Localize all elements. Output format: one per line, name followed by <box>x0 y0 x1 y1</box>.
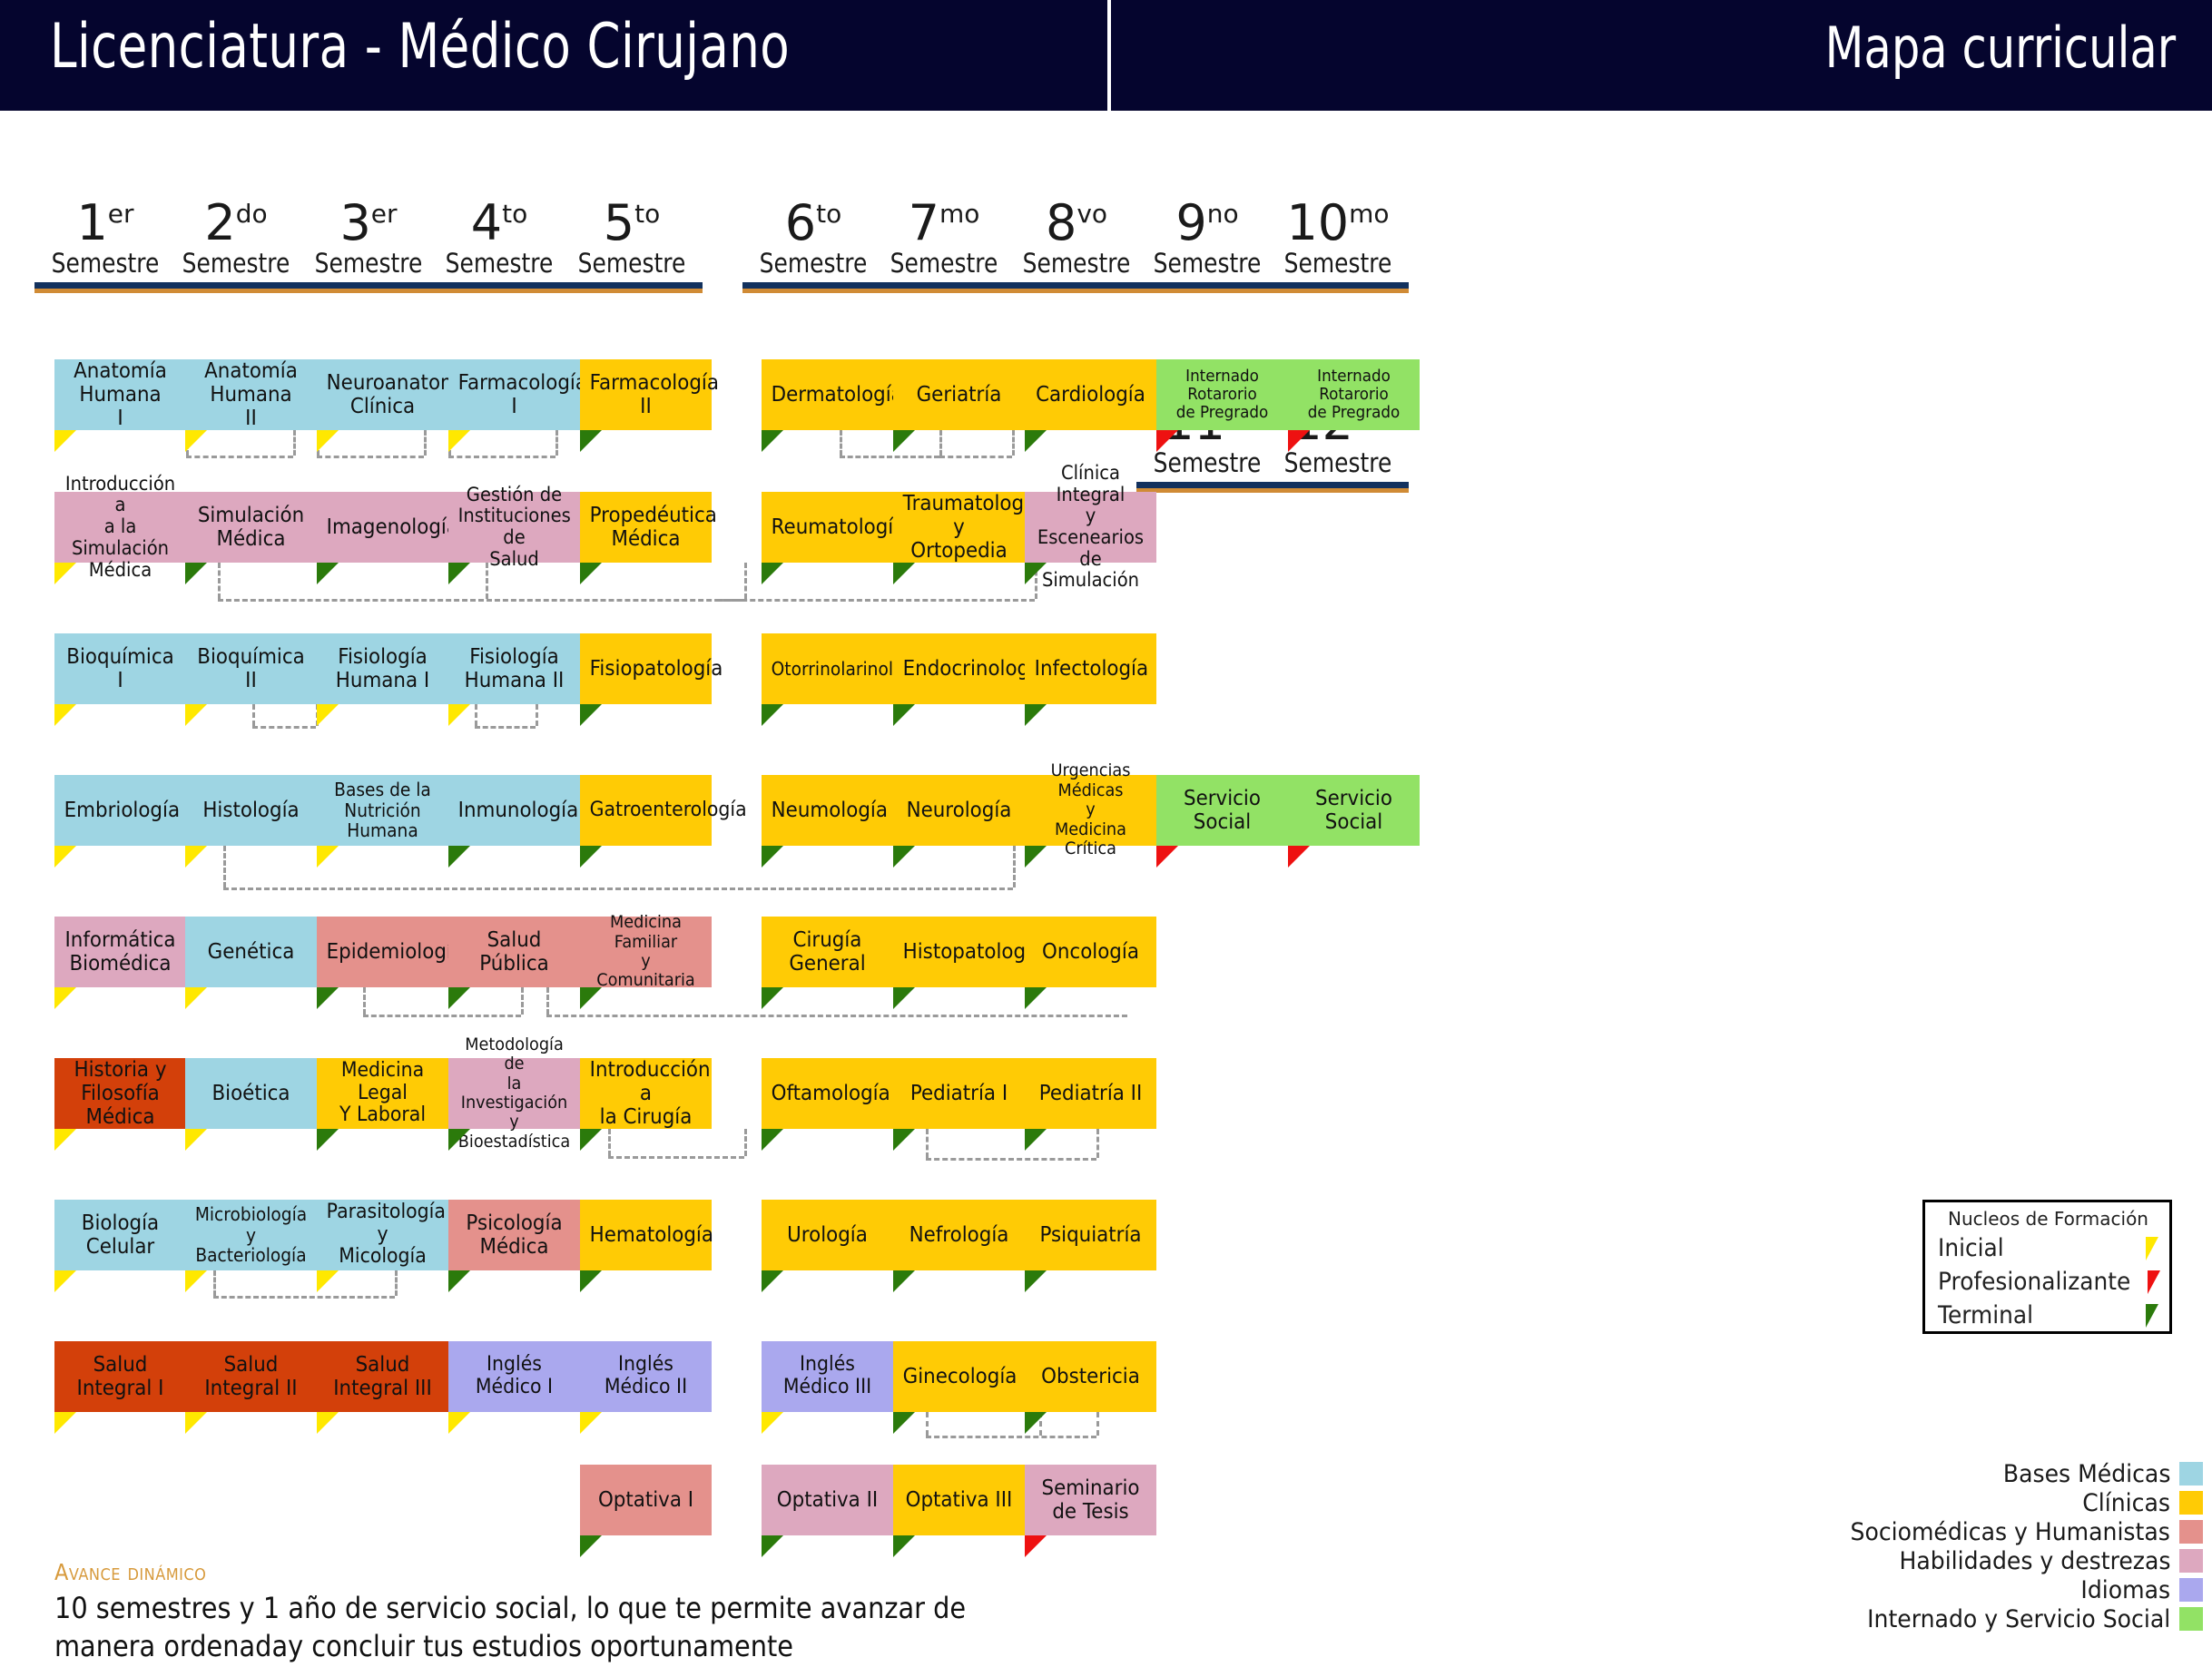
semester-rule <box>561 282 703 293</box>
course-label: Genética <box>195 940 308 964</box>
course-box[interactable]: FisiologíaHumana II <box>448 633 580 704</box>
course-box[interactable]: Internado Rotaroriode Pregrado <box>1156 359 1288 430</box>
nucleos-legend-row-inicial: Inicial <box>1938 1231 2158 1265</box>
semester-word: Semestre <box>571 249 693 279</box>
course-nucleo-flag-prof-icon <box>1156 846 1178 868</box>
course-nucleo-flag-inicial-icon <box>185 704 207 726</box>
course-box[interactable]: Optativa III <box>893 1465 1025 1535</box>
course-box[interactable]: BiologíaCelular <box>54 1200 186 1270</box>
course-nucleo-flag-terminal-icon <box>762 704 783 726</box>
course-nucleo-flag-inicial-icon <box>54 846 76 868</box>
course-label: ServicioSocial <box>1298 787 1411 834</box>
course-box[interactable]: Neurología <box>893 775 1025 846</box>
course-box[interactable]: Epidemiología <box>317 917 448 987</box>
semester-rule <box>428 282 570 293</box>
legend-color-swatch <box>2179 1607 2203 1631</box>
course-box[interactable]: SaludIntegral II <box>185 1341 317 1412</box>
course-nucleo-flag-terminal-icon <box>448 846 470 868</box>
semester-header-1: 1erSemestre <box>34 198 176 293</box>
course-box[interactable]: Clínica Integraly Escenearios deSimulaci… <box>1025 492 1156 563</box>
course-label: AnatomíaHumanaII <box>195 359 308 430</box>
course-box[interactable]: Hematología <box>580 1200 712 1270</box>
course-label: Inglés Médico III <box>772 1354 884 1399</box>
semester-number: 1er <box>34 198 176 249</box>
course-label: Bioquímica I <box>64 645 177 692</box>
course-box[interactable]: SaludIntegral III <box>317 1341 448 1412</box>
legend-row: Habilidades y destrezas <box>1695 1546 2203 1575</box>
semester-ordinal-suffix: no <box>1207 199 1239 229</box>
page-subtitle: Mapa curricular <box>1824 15 2176 81</box>
course-box[interactable]: Imagenología <box>317 492 448 563</box>
course-label: SaludIntegral III <box>327 1353 439 1400</box>
course-box[interactable]: Inglés Médico II <box>580 1341 712 1412</box>
prerequisite-connector <box>252 726 316 729</box>
course-label: Internado Rotaroriode Pregrado <box>1298 368 1411 423</box>
prerequisite-connector <box>536 704 538 726</box>
course-label: Bioética <box>195 1082 308 1105</box>
course-box[interactable]: Cardiología <box>1025 359 1156 430</box>
legend-color-swatch <box>2179 1520 2203 1544</box>
course-nucleo-flag-inicial-icon <box>54 430 76 452</box>
course-nucleo-flag-inicial-icon <box>54 704 76 726</box>
course-label: Reumatología <box>772 515 884 539</box>
course-label: Optativa III <box>903 1488 1016 1512</box>
course-box[interactable]: Bioquímica II <box>185 633 317 704</box>
course-box[interactable]: Internado Rotaroriode Pregrado <box>1288 359 1420 430</box>
course-box[interactable]: Bioética <box>185 1058 317 1129</box>
legend-row: Clínicas <box>1695 1488 2203 1517</box>
prerequisite-connector <box>1096 1129 1099 1158</box>
semester-number: 3er <box>298 198 439 249</box>
prerequisite-connector <box>840 456 939 458</box>
course-label: CirugíaGeneral <box>772 928 884 976</box>
course-box[interactable]: Parasitología yMicología <box>317 1200 448 1270</box>
semester-header-4: 4toSemestre <box>428 198 570 293</box>
semester-header-8: 8voSemestre <box>1006 198 1147 293</box>
prerequisite-connector <box>293 430 296 456</box>
semester-number: 7mo <box>873 198 1015 249</box>
course-label: Pediatría I <box>903 1082 1016 1105</box>
course-nucleo-flag-inicial-icon <box>54 1129 76 1151</box>
course-box[interactable]: Oncología <box>1025 917 1156 987</box>
course-nucleo-flag-terminal-icon <box>762 563 783 584</box>
course-nucleo-flag-terminal-icon <box>448 1129 470 1151</box>
semester-number: 6to <box>742 198 884 249</box>
course-box[interactable]: Otorrinolarinología <box>762 633 893 704</box>
course-nucleo-flag-terminal-icon <box>762 846 783 868</box>
course-nucleo-flag-terminal-icon <box>580 1535 602 1557</box>
course-nucleo-flag-terminal-icon <box>580 987 602 1009</box>
course-label: Hematología <box>590 1223 703 1247</box>
semester-ordinal-suffix: do <box>236 199 268 229</box>
prerequisite-connector <box>608 1129 611 1156</box>
course-box[interactable]: Fisiopatología <box>580 633 712 704</box>
nucleos-label-terminal: Terminal <box>1938 1301 2033 1329</box>
course-label: Internado Rotaroriode Pregrado <box>1166 368 1279 423</box>
semester-number: 8vo <box>1006 198 1147 249</box>
course-label: Fisiopatología <box>590 657 703 681</box>
semester-word: Semestre <box>175 249 297 279</box>
semester-rule <box>298 282 439 293</box>
course-label: Inglés Médico II <box>590 1354 703 1399</box>
course-label: Neurología <box>903 799 1016 822</box>
course-label: Imagenología <box>327 515 439 539</box>
course-label: Salud Pública <box>458 928 571 976</box>
course-nucleo-flag-terminal-icon <box>762 1270 783 1292</box>
semester-number: 5to <box>561 198 703 249</box>
page-header: Licenciatura - Médico Cirujano Mapa curr… <box>0 0 2212 111</box>
prerequisite-connector <box>218 599 744 602</box>
course-box[interactable]: CirugíaGeneral <box>762 917 893 987</box>
course-box[interactable]: Introducción ala Cirugía <box>580 1058 712 1129</box>
course-nucleo-flag-inicial-icon <box>448 430 470 452</box>
legend-row: Bases Médicas <box>1695 1459 2203 1488</box>
course-box[interactable]: Nefrología <box>893 1200 1025 1270</box>
course-nucleo-flag-terminal-icon <box>1025 1129 1047 1151</box>
course-nucleo-flag-terminal-icon <box>893 1129 915 1151</box>
course-nucleo-flag-prof-icon <box>1025 1535 1047 1557</box>
semester-number: 10mo <box>1267 198 1409 249</box>
course-nucleo-flag-inicial-icon <box>54 563 76 584</box>
legend-color-swatch <box>2179 1491 2203 1515</box>
prerequisite-connector <box>926 1436 1096 1438</box>
course-nucleo-flag-inicial-icon <box>185 1412 207 1434</box>
course-nucleo-flag-terminal-icon <box>580 704 602 726</box>
prerequisite-connector <box>840 430 842 456</box>
course-box[interactable]: Salud Pública <box>448 917 580 987</box>
nucleos-legend-row-terminal: Terminal <box>1938 1299 2158 1332</box>
course-nucleo-flag-inicial-icon <box>762 1412 783 1434</box>
course-label: Introducción ala Cirugía <box>590 1058 703 1129</box>
course-box[interactable]: Endocrinología <box>893 633 1025 704</box>
semester-header-6: 6toSemestre <box>742 198 884 293</box>
prerequisite-connector <box>744 1129 747 1156</box>
prerequisite-connector <box>363 987 366 1015</box>
course-box[interactable]: Embriología <box>54 775 186 846</box>
course-label: Urgencias MédicasyMedicina Crítica <box>1035 761 1147 858</box>
nucleos-legend: Nucleos de Formación Inicial Profesional… <box>1922 1200 2172 1334</box>
course-nucleo-flag-terminal-icon <box>317 987 339 1009</box>
course-box[interactable]: Oftamología <box>762 1058 893 1129</box>
semester-header-2: 2doSemestre <box>165 198 307 293</box>
nucleos-label-profesionalizante: Profesionalizante <box>1938 1268 2130 1296</box>
course-box[interactable]: NeuroanatomíaClínica <box>317 359 448 430</box>
semester-header-10: 10moSemestre <box>1267 198 1409 293</box>
prerequisite-connector <box>939 430 942 456</box>
course-nucleo-flag-inicial-icon <box>54 1270 76 1292</box>
course-nucleo-flag-terminal-icon <box>580 1129 602 1151</box>
course-box[interactable]: Bases de laNutrición Humana <box>317 775 448 846</box>
course-box[interactable]: Infectología <box>1025 633 1156 704</box>
semester-ordinal-suffix: to <box>816 199 841 229</box>
semester-word: Semestre <box>438 249 560 279</box>
course-nucleo-flag-inicial-icon <box>185 430 207 452</box>
course-label: Gestión deInstituciones deSalud <box>458 485 571 571</box>
course-nucleo-flag-terminal-icon <box>1025 1412 1047 1434</box>
legend-row: Internado y Servicio Social <box>1695 1604 2203 1633</box>
semester-word: Semestre <box>1277 249 1399 279</box>
course-nucleo-flag-prof-icon <box>1156 430 1178 452</box>
footnote: Avance dinámico 10 semestres y 1 año de … <box>54 1559 1144 1665</box>
course-nucleo-flag-inicial-icon <box>317 846 339 868</box>
course-nucleo-flag-inicial-icon <box>317 1412 339 1434</box>
course-nucleo-flag-terminal-icon <box>1025 704 1047 726</box>
course-label: Urología <box>772 1223 884 1247</box>
semester-word: Semestre <box>1016 249 1137 279</box>
footnote-body: 10 semestres y 1 año de servicio social,… <box>54 1589 1035 1665</box>
course-box[interactable]: Pediatría I <box>893 1058 1025 1129</box>
semester-word: Semestre <box>308 249 429 279</box>
semester-header-7: 7moSemestre <box>873 198 1015 293</box>
course-nucleo-flag-inicial-icon <box>448 704 470 726</box>
semester-rule <box>1267 282 1409 293</box>
course-label: Obstericia <box>1035 1365 1147 1388</box>
course-box[interactable]: Introducción aa la SimulaciónMédica <box>54 492 186 563</box>
course-label: Cardiología <box>1035 383 1147 407</box>
course-box[interactable]: Psiquiatría <box>1025 1200 1156 1270</box>
legend-color-swatch <box>2179 1578 2203 1602</box>
course-box[interactable]: Urgencias MédicasyMedicina Crítica <box>1025 775 1156 846</box>
semester-ordinal-suffix: vo <box>1077 199 1107 229</box>
course-box[interactable]: Pediatría II <box>1025 1058 1156 1129</box>
course-label: Psiquiatría <box>1035 1223 1147 1247</box>
course-nucleo-flag-terminal-icon <box>580 430 602 452</box>
legend-label: Clínicas <box>2082 1489 2170 1517</box>
course-nucleo-flag-terminal-icon <box>185 563 207 584</box>
prerequisite-connector <box>213 1296 395 1299</box>
course-label: AnatomíaHumanaI <box>64 359 177 430</box>
course-box[interactable]: Seminariode Tesis <box>1025 1465 1156 1535</box>
course-label: Infectología <box>1035 657 1147 681</box>
course-box[interactable]: Genética <box>185 917 317 987</box>
prerequisite-connector <box>213 1270 216 1296</box>
course-label: Inglés Médico I <box>458 1354 571 1399</box>
prerequisite-connector <box>475 726 536 729</box>
course-box[interactable]: ServicioSocial <box>1288 775 1420 846</box>
legend-label: Bases Médicas <box>2002 1460 2170 1488</box>
prerequisite-connector <box>926 1412 929 1436</box>
legend-label: Sociomédicas y Humanistas <box>1851 1518 2170 1546</box>
page-title: Licenciatura - Médico Cirujano <box>50 11 790 83</box>
course-label: Endocrinología <box>903 657 1016 681</box>
course-nucleo-flag-terminal-icon <box>317 1129 339 1151</box>
course-box[interactable]: Inglés Médico III <box>762 1341 893 1412</box>
course-label: SaludIntegral I <box>64 1353 177 1400</box>
course-box[interactable]: AnatomíaHumanaII <box>185 359 317 430</box>
semester-ordinal-suffix: mo <box>939 199 979 229</box>
course-label: Introducción aa la SimulaciónMédica <box>64 474 177 582</box>
course-box[interactable]: InformáticaBiomédica <box>54 917 186 987</box>
course-box[interactable]: Historia yFilosofíaMédica <box>54 1058 186 1129</box>
prerequisite-connector <box>546 987 549 1015</box>
prerequisite-connector <box>1013 846 1016 887</box>
triangle-flag-terminal-icon <box>2146 1304 2158 1328</box>
course-label: Nefrología <box>903 1223 1016 1247</box>
semester-ordinal-suffix: mo <box>1349 199 1389 229</box>
course-label: Epidemiología <box>327 940 439 964</box>
legend-color-swatch <box>2179 1462 2203 1486</box>
course-label: Oftamología <box>772 1082 884 1105</box>
course-box[interactable]: PsicologíaMédica <box>448 1200 580 1270</box>
course-nucleo-flag-terminal-icon <box>1025 563 1047 584</box>
semester-header-9: 9noSemestre <box>1136 198 1278 293</box>
course-box[interactable]: Reumatología <box>762 492 893 563</box>
course-label: Oncología <box>1035 940 1147 964</box>
course-nucleo-flag-terminal-icon <box>1025 1270 1047 1292</box>
course-box[interactable]: Obstericia <box>1025 1341 1156 1412</box>
legend-label: Idiomas <box>2080 1576 2170 1604</box>
course-label: Inmunología <box>458 799 571 822</box>
course-nucleo-flag-terminal-icon <box>893 704 915 726</box>
course-nucleo-flag-prof-icon <box>1288 430 1310 452</box>
legend-color-swatch <box>2179 1549 2203 1573</box>
prerequisite-connector <box>926 1129 929 1158</box>
course-label: Microbiología yBacteriología <box>195 1204 308 1266</box>
prerequisite-connector <box>448 456 555 458</box>
course-label: Histología <box>195 799 308 822</box>
course-box[interactable]: Medicina FamiliaryComunitaria <box>580 917 712 987</box>
course-nucleo-flag-inicial-icon <box>317 430 339 452</box>
course-nucleo-flag-terminal-icon <box>893 1412 915 1434</box>
course-box[interactable]: Urología <box>762 1200 893 1270</box>
course-box[interactable]: ServicioSocial <box>1156 775 1288 846</box>
legend-row: Idiomas <box>1695 1575 2203 1604</box>
prerequisite-connector <box>717 599 1035 602</box>
course-nucleo-flag-inicial-icon <box>580 1412 602 1434</box>
course-box[interactable]: Inglés Médico I <box>448 1341 580 1412</box>
semester-word: Semestre <box>1277 448 1399 478</box>
course-label: InformáticaBiomédica <box>64 928 177 976</box>
course-label: Medicina FamiliaryComunitaria <box>590 913 703 991</box>
course-box[interactable]: Ginecología <box>893 1341 1025 1412</box>
prerequisite-connector <box>475 704 477 726</box>
semester-header-3: 3erSemestre <box>298 198 439 293</box>
prerequisite-connector <box>223 846 226 887</box>
course-box[interactable]: SaludIntegral I <box>54 1341 186 1412</box>
course-box[interactable]: Optativa II <box>762 1465 893 1535</box>
semester-rule <box>1006 282 1147 293</box>
prerequisite-connector <box>546 1015 1127 1017</box>
course-box[interactable]: FarmacologíaII <box>580 359 712 430</box>
category-color-legend: Bases MédicasClínicasSociomédicas y Huma… <box>1695 1459 2203 1633</box>
course-nucleo-flag-terminal-icon <box>893 563 915 584</box>
semester-rule <box>1136 282 1278 293</box>
course-box[interactable]: PropedéuticaMédica <box>580 492 712 563</box>
course-box[interactable]: Geriatría <box>893 359 1025 430</box>
semester-ordinal-suffix: er <box>108 199 134 229</box>
prerequisite-connector <box>252 704 255 726</box>
prerequisite-connector <box>926 1158 1096 1161</box>
semester-rule <box>1267 482 1409 493</box>
footnote-title: Avance dinámico <box>54 1559 1035 1585</box>
semester-rule <box>1136 482 1278 493</box>
course-label: Optativa I <box>590 1488 703 1512</box>
course-box[interactable]: FisiologíaHumana I <box>317 633 448 704</box>
course-box[interactable]: Metodología dela Investigación yBioestad… <box>448 1058 580 1129</box>
legend-label: Habilidades y destrezas <box>1899 1547 2170 1575</box>
course-label: Gatroenterología <box>590 799 703 822</box>
semester-word: Semestre <box>1146 448 1268 478</box>
triangle-flag-profesionalizante-icon <box>2148 1270 2160 1294</box>
nucleos-legend-title: Nucleos de Formación <box>1938 1208 2158 1230</box>
course-label: Traumatologíay Ortopedia <box>903 492 1016 563</box>
course-nucleo-flag-terminal-icon <box>580 563 602 584</box>
prerequisite-connector <box>218 563 221 599</box>
course-nucleo-flag-terminal-icon <box>1025 430 1047 452</box>
triangle-flag-inicial-icon <box>2146 1237 2158 1260</box>
course-box[interactable]: Optativa I <box>580 1465 712 1535</box>
header-divider <box>1107 0 1111 111</box>
prerequisite-connector <box>363 1015 521 1017</box>
semester-rule <box>873 282 1015 293</box>
course-box[interactable]: Bioquímica I <box>54 633 186 704</box>
prerequisite-connector <box>555 430 558 456</box>
course-label: Medicina LegalY Laboral <box>327 1060 439 1128</box>
course-nucleo-flag-inicial-icon <box>185 987 207 1009</box>
course-nucleo-flag-inicial-icon <box>317 704 339 726</box>
course-box[interactable]: Histopatología <box>893 917 1025 987</box>
nucleos-label-inicial: Inicial <box>1938 1234 2004 1262</box>
course-box[interactable]: Inmunología <box>448 775 580 846</box>
course-label: ServicioSocial <box>1166 787 1279 834</box>
prerequisite-connector <box>1012 430 1015 456</box>
semester-header-5: 5toSemestre <box>561 198 703 293</box>
prerequisite-connector <box>608 1156 744 1159</box>
semester-rule <box>165 282 307 293</box>
course-label: Seminariode Tesis <box>1035 1476 1147 1524</box>
semester-rule <box>742 282 884 293</box>
course-box[interactable]: Histología <box>185 775 317 846</box>
course-nucleo-flag-prof-icon <box>1288 846 1310 868</box>
course-nucleo-flag-terminal-icon <box>448 563 470 584</box>
course-nucleo-flag-terminal-icon <box>893 1535 915 1557</box>
course-label: Optativa II <box>772 1488 884 1512</box>
course-nucleo-flag-terminal-icon <box>448 1270 470 1292</box>
course-box[interactable]: Traumatologíay Ortopedia <box>893 492 1025 563</box>
course-nucleo-flag-inicial-icon <box>54 987 76 1009</box>
legend-row: Sociomédicas y Humanistas <box>1695 1517 2203 1546</box>
course-box[interactable]: SimulaciónMédica <box>185 492 317 563</box>
course-label: Embriología <box>64 799 177 822</box>
course-nucleo-flag-terminal-icon <box>762 987 783 1009</box>
course-box[interactable]: Gatroenterología <box>580 775 712 846</box>
course-box[interactable]: FarmacologíaI <box>448 359 580 430</box>
course-nucleo-flag-inicial-icon <box>185 1129 207 1151</box>
prerequisite-connector <box>1096 1412 1099 1436</box>
course-box[interactable]: Neumología <box>762 775 893 846</box>
semester-word: Semestre <box>1146 249 1268 279</box>
course-nucleo-flag-terminal-icon <box>893 430 915 452</box>
course-label: FarmacologíaI <box>458 371 571 418</box>
course-nucleo-flag-terminal-icon <box>762 1535 783 1557</box>
course-box[interactable]: Microbiología yBacteriología <box>185 1200 317 1270</box>
course-label: Metodología dela Investigación yBioestad… <box>458 1035 571 1152</box>
course-box[interactable]: Medicina LegalY Laboral <box>317 1058 448 1129</box>
course-box[interactable]: Gestión deInstituciones deSalud <box>448 492 580 563</box>
course-box[interactable]: Dermatología <box>762 359 893 430</box>
course-box[interactable]: AnatomíaHumanaI <box>54 359 186 430</box>
course-nucleo-flag-terminal-icon <box>317 563 339 584</box>
semester-ordinal-suffix: to <box>634 199 660 229</box>
course-nucleo-flag-terminal-icon <box>893 987 915 1009</box>
semester-number: 4to <box>428 198 570 249</box>
prerequisite-connector <box>521 987 524 1015</box>
semester-number: 9no <box>1136 198 1278 249</box>
course-nucleo-flag-terminal-icon <box>580 846 602 868</box>
course-nucleo-flag-inicial-icon <box>185 846 207 868</box>
course-label: Parasitología yMicología <box>327 1201 439 1270</box>
prerequisite-connector <box>223 887 1013 890</box>
